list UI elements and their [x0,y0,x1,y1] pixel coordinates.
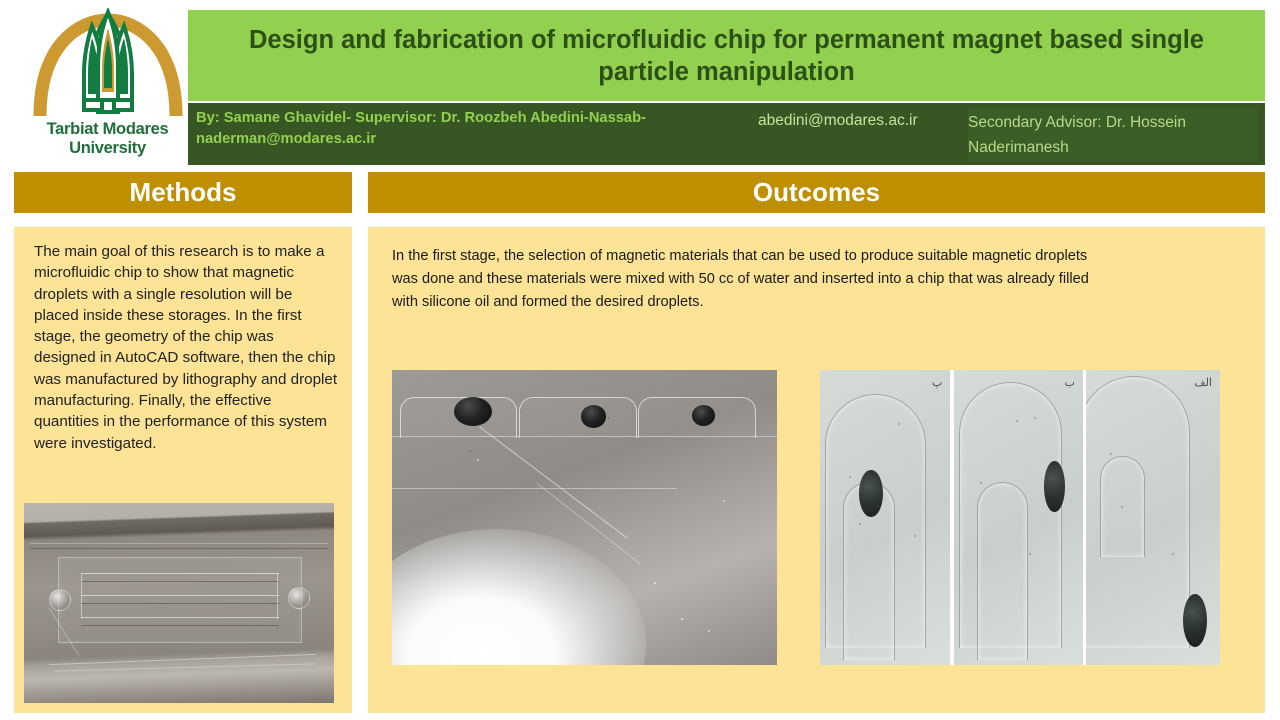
sequence-panel-1-label: پ [932,376,942,389]
section-title-outcomes: Outcomes [753,177,880,208]
logo-caption-line2: University [30,139,185,158]
sequence-panel-2-label: ب [1064,376,1074,389]
sequence-panel-2: ب [954,370,1083,665]
chip-photograph [24,503,334,703]
methods-panel: The main goal of this research is to mak… [14,227,352,713]
outcomes-body-text: In the first stage, the selection of mag… [392,245,1112,314]
outcomes-panel: In the first stage, the selection of mag… [368,227,1265,713]
section-title-methods: Methods [130,177,237,208]
university-logo: Tarbiat Modares University [30,8,185,166]
page-title: Design and fabrication of microfluidic c… [188,24,1265,88]
section-banner-outcomes: Outcomes [368,172,1265,213]
authors-bar: By: Samane Ghavidel- Supervisor: Dr. Roo… [188,103,1265,165]
droplet-sequence-figure: پ ب الف [820,370,1220,665]
logo-caption: Tarbiat Modares University [30,120,185,158]
sequence-panel-1: پ [820,370,950,665]
sequence-panel-3-label: الف [1194,376,1212,389]
droplet-micrograph [392,370,777,665]
methods-body-text: The main goal of this research is to mak… [34,241,338,454]
sequence-panel-3: الف [1086,370,1220,665]
logo-mark-icon [30,8,185,120]
section-banner-methods: Methods [14,172,352,213]
authors-primary: By: Samane Ghavidel- Supervisor: Dr. Roo… [196,108,756,150]
author-email[interactable]: abedini@modares.ac.ir [758,110,953,131]
authors-secondary: Secondary Advisor: Dr. Hossein Naderiman… [968,108,1258,162]
poster-title-bar: Design and fabrication of microfluidic c… [188,10,1265,101]
logo-caption-line1: Tarbiat Modares [30,120,185,139]
